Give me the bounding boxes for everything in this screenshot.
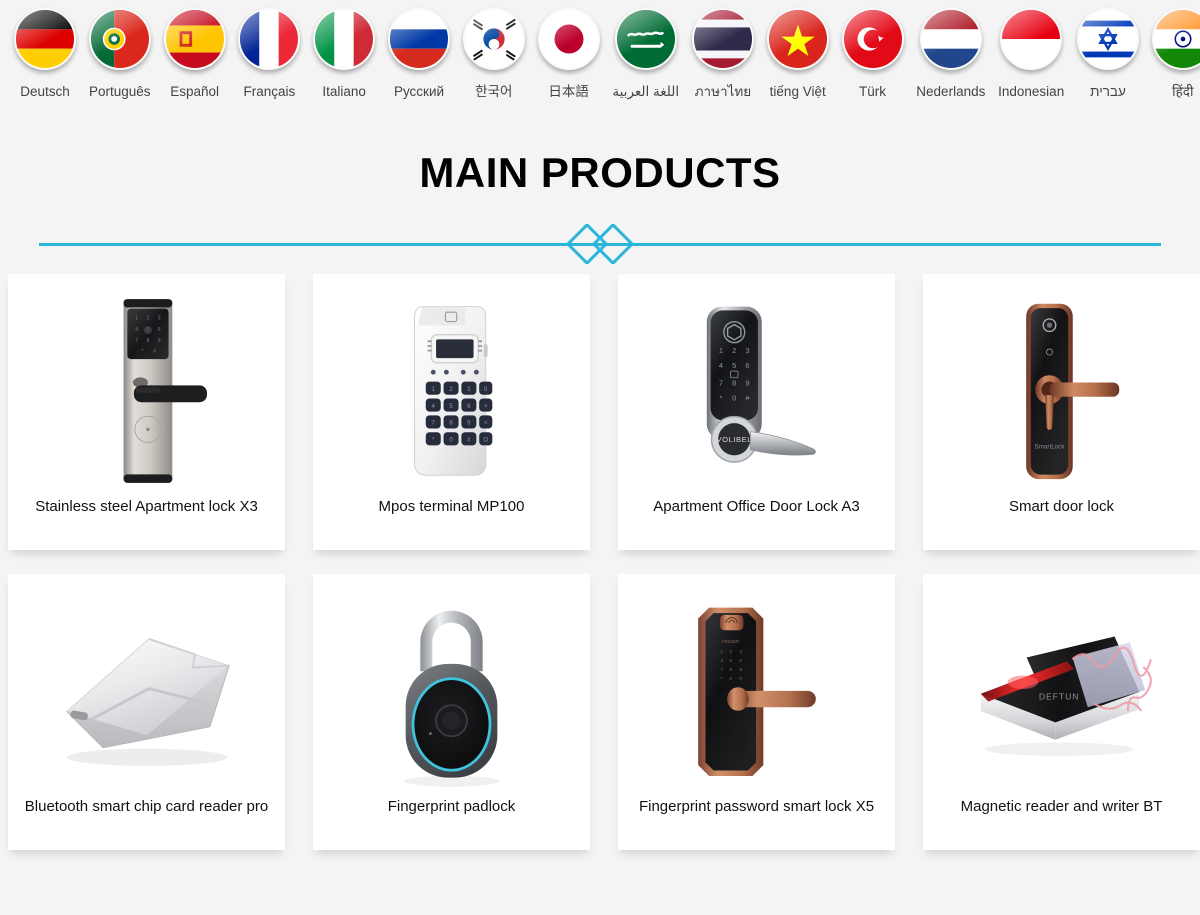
fingerprint-padlock-image[interactable]: [319, 582, 584, 798]
flag-portugal-icon[interactable]: [89, 8, 151, 70]
svg-text:5: 5: [732, 361, 736, 370]
language-label: Indonesian: [998, 85, 1064, 99]
svg-text:7: 7: [135, 338, 138, 344]
svg-text:1: 1: [718, 346, 722, 355]
product-title: Mpos terminal MP100: [319, 498, 584, 515]
svg-text:1: 1: [135, 316, 138, 322]
flag-vietnam-icon[interactable]: [767, 8, 829, 70]
flag-turkey-icon[interactable]: [842, 8, 904, 70]
language-item-tiếng-việt[interactable]: tiếng Việt: [767, 8, 829, 99]
apartment-office-door-lock-a3-image[interactable]: 123 456 789 *0# VOLIBEL: [624, 282, 889, 498]
language-label: עברית: [1090, 85, 1126, 99]
svg-text:<: <: [483, 420, 487, 427]
language-label: tiếng Việt: [770, 85, 826, 99]
language-item-עברית[interactable]: עברית: [1077, 8, 1139, 99]
svg-text:3: 3: [739, 649, 742, 655]
svg-text:7: 7: [720, 667, 723, 673]
svg-text:2: 2: [732, 346, 736, 355]
svg-text:O: O: [483, 437, 488, 444]
flag-france-icon[interactable]: [238, 8, 300, 70]
flag-japan-icon[interactable]: [538, 8, 600, 70]
flag-netherlands-icon[interactable]: [920, 8, 982, 70]
svg-text:6: 6: [745, 361, 749, 370]
fingerprint-password-smart-lock-x5-image[interactable]: FINGER 123 456 789 *0#: [624, 582, 889, 798]
product-title: Smart door lock: [929, 498, 1194, 515]
svg-text:FINGER: FINGER: [722, 639, 740, 644]
product-title: Apartment Office Door Lock A3: [624, 498, 889, 515]
language-item-한국어[interactable]: 한국어: [463, 8, 525, 99]
language-label: हिंदी: [1172, 85, 1193, 99]
section-divider: [39, 224, 1161, 264]
language-label: Nederlands: [916, 85, 985, 99]
language-item-italiano[interactable]: Italiano: [313, 8, 375, 99]
product-grid: 123 456 789 *# Stainless steel Apartment…: [0, 274, 1200, 850]
language-item-español[interactable]: Español: [164, 8, 226, 99]
product-card[interactable]: 1230 456× 789< *0#O Mpos terminal MP100: [313, 274, 590, 550]
product-card[interactable]: SmartLock Smart door lock: [923, 274, 1200, 550]
flag-israel-icon[interactable]: [1077, 8, 1139, 70]
product-title: Fingerprint password smart lock X5: [624, 798, 889, 815]
product-card[interactable]: FINGER 123 456 789 *0# Fingerprint passw…: [618, 574, 895, 850]
flag-south-korea-icon[interactable]: [463, 8, 525, 70]
language-label: Français: [244, 85, 296, 99]
svg-text:9: 9: [157, 338, 160, 344]
svg-text:0: 0: [732, 393, 736, 402]
page-title: MAIN PRODUCTS: [0, 152, 1200, 194]
product-card[interactable]: Bluetooth smart chip card reader pro: [8, 574, 285, 850]
bluetooth-chip-card-reader-pro-image[interactable]: [14, 582, 279, 798]
flag-thailand-icon[interactable]: [692, 8, 754, 70]
product-title: Magnetic reader and writer BT: [929, 798, 1194, 815]
svg-text:4: 4: [720, 658, 723, 664]
svg-text:*: *: [141, 349, 143, 355]
flag-saudi-arabia-icon[interactable]: [615, 8, 677, 70]
language-label: اللغة العربية: [612, 85, 679, 99]
product-title: Fingerprint padlock: [319, 798, 584, 815]
language-item-indonesian[interactable]: Indonesian: [998, 8, 1064, 99]
svg-text:SmartLock: SmartLock: [1034, 443, 1065, 450]
language-label: ภาษาไทย: [695, 85, 752, 99]
svg-text:7: 7: [718, 378, 722, 387]
svg-text:#: #: [739, 676, 742, 682]
stainless-apartment-lock-x3-image[interactable]: 123 456 789 *#: [14, 282, 279, 498]
magnetic-reader-writer-bt-image[interactable]: DEFTUN: [929, 582, 1194, 798]
language-label: Español: [170, 85, 219, 99]
language-label: Русский: [394, 85, 444, 99]
svg-text:0: 0: [729, 676, 732, 682]
svg-text:9: 9: [739, 667, 742, 673]
svg-text:5: 5: [729, 658, 732, 664]
language-label: 한국어: [475, 85, 512, 99]
language-item-français[interactable]: Français: [238, 8, 300, 99]
language-item-nederlands[interactable]: Nederlands: [916, 8, 985, 99]
language-label: 日本語: [548, 85, 589, 99]
product-title: Stainless steel Apartment lock X3: [14, 498, 279, 515]
flag-russia-icon[interactable]: [388, 8, 450, 70]
product-card[interactable]: 123 456 789 *# Stainless steel Apartment…: [8, 274, 285, 550]
svg-text:9: 9: [745, 378, 749, 387]
double-diamond-icon: [563, 224, 637, 264]
smart-door-lock-image[interactable]: SmartLock: [929, 282, 1194, 498]
language-label: Português: [89, 85, 151, 99]
flag-italy-icon[interactable]: [313, 8, 375, 70]
svg-text:8: 8: [732, 378, 736, 387]
svg-text:#: #: [153, 349, 156, 355]
svg-text:1: 1: [720, 649, 723, 655]
product-title: Bluetooth smart chip card reader pro: [14, 798, 279, 815]
mpos-terminal-mp100-image[interactable]: 1230 456× 789< *0#O: [319, 282, 584, 498]
language-item-اللغة-العربية[interactable]: اللغة العربية: [612, 8, 679, 99]
language-item-日本語[interactable]: 日本語: [538, 8, 600, 99]
svg-text:*: *: [720, 676, 722, 682]
svg-text:8: 8: [729, 667, 732, 673]
language-item-हिंदी[interactable]: हिंदी: [1152, 8, 1200, 99]
svg-text:6: 6: [157, 327, 160, 333]
product-card[interactable]: 123 456 789 *0# VOLIBEL Apartment Office…: [618, 274, 895, 550]
language-item-türk[interactable]: Türk: [842, 8, 904, 99]
language-list: DeutschPortuguêsEspañolFrançaisItalianoР…: [0, 8, 1200, 99]
svg-text:VOLIBEL: VOLIBEL: [716, 435, 752, 444]
language-label: Türk: [859, 85, 886, 99]
svg-text:3: 3: [745, 346, 749, 355]
svg-text:2: 2: [146, 316, 149, 322]
language-item-português[interactable]: Português: [89, 8, 151, 99]
product-card[interactable]: Fingerprint padlock: [313, 574, 590, 850]
product-card[interactable]: DEFTUN Magnetic reader and writer BT: [923, 574, 1200, 850]
flag-india-icon[interactable]: [1152, 8, 1200, 70]
svg-text:*: *: [719, 393, 722, 402]
language-label: Deutsch: [20, 85, 70, 99]
language-selector-bar: DeutschPortuguêsEspañolFrançaisItalianoР…: [0, 0, 1200, 140]
language-label: Italiano: [322, 85, 366, 99]
language-item-deutsch[interactable]: Deutsch: [14, 8, 76, 99]
flag-indonesia-icon[interactable]: [1000, 8, 1062, 70]
svg-text:DEFTUN: DEFTUN: [1038, 692, 1079, 702]
svg-text:4: 4: [718, 361, 722, 370]
svg-text:3: 3: [157, 316, 160, 322]
svg-text:6: 6: [739, 658, 742, 664]
svg-text:×: ×: [483, 403, 487, 410]
svg-text:4: 4: [135, 327, 138, 333]
language-item-ภาษาไทย[interactable]: ภาษาไทย: [692, 8, 754, 99]
language-item-русский[interactable]: Русский: [388, 8, 450, 99]
svg-text:2: 2: [729, 649, 732, 655]
flag-spain-icon[interactable]: [164, 8, 226, 70]
svg-text:8: 8: [146, 338, 149, 344]
flag-germany-icon[interactable]: [14, 8, 76, 70]
